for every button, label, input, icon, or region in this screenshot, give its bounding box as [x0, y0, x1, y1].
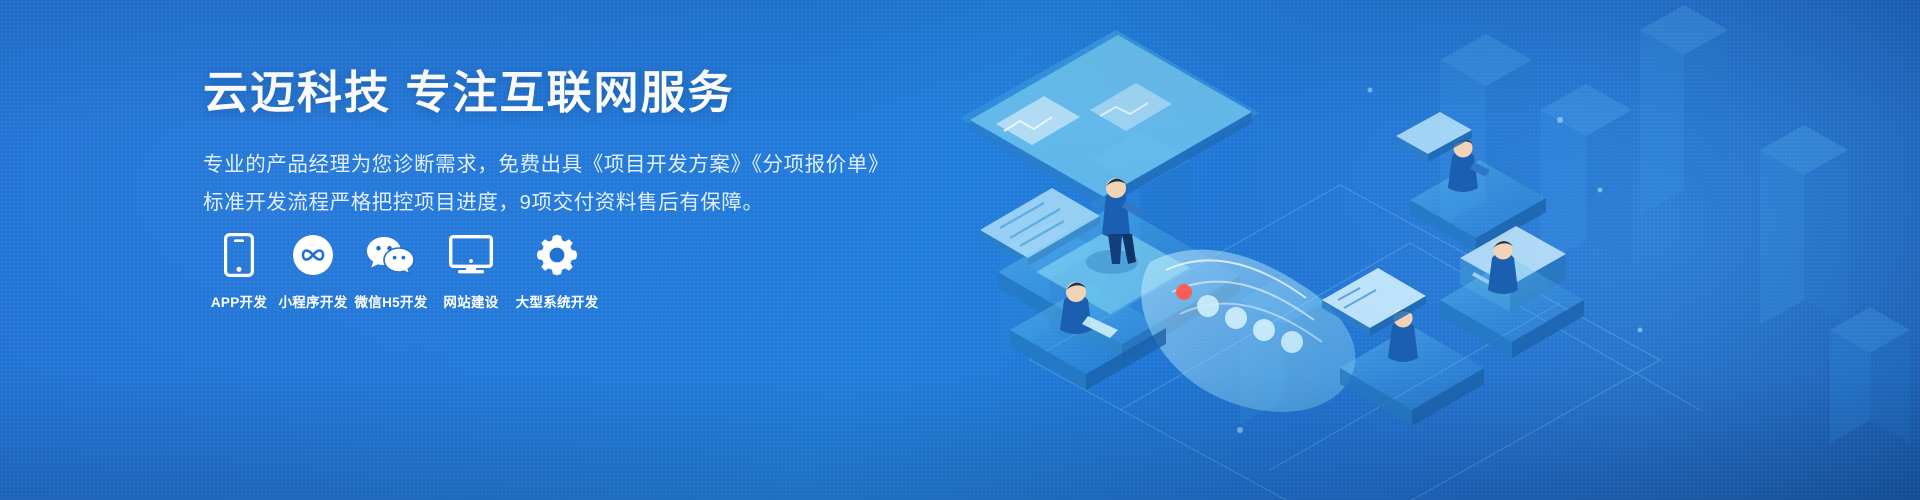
promo-banner: 云迈科技 专注互联网服务 专业的产品经理为您诊断需求，免费出具《项目开发方案》《…: [0, 0, 1920, 500]
banner-content: 云迈科技 专注互联网服务 专业的产品经理为您诊断需求，免费出具《项目开发方案》《…: [203, 66, 963, 222]
mobile-phone-icon: [224, 232, 254, 278]
subtitle-line-2: 标准开发流程严格把控项目进度，9项交付资料售后有保障。: [203, 184, 963, 222]
service-label: 网站建设: [443, 291, 498, 311]
wechat-icon: [366, 232, 416, 278]
banner-headline: 云迈科技 专注互联网服务: [203, 66, 963, 119]
service-item-miniprogram[interactable]: 小程序开发: [277, 232, 349, 311]
mini-program-icon: [292, 232, 334, 278]
service-label: 小程序开发: [279, 291, 348, 311]
service-item-wechat-h5[interactable]: 微信H5开发: [351, 232, 431, 311]
data-ribbon: [1141, 250, 1355, 412]
service-label: 大型系统开发: [516, 291, 599, 311]
service-label: APP开发: [211, 291, 267, 311]
service-item-website[interactable]: 网站建设: [433, 232, 509, 311]
monitor-icon: [449, 232, 493, 278]
banner-subtitle: 专业的产品经理为您诊断需求，免费出具《项目开发方案》《分项报价单》 标准开发流程…: [203, 146, 963, 221]
subtitle-line-1: 专业的产品经理为您诊断需求，免费出具《项目开发方案》《分项报价单》: [203, 146, 963, 184]
service-item-app[interactable]: APP开发: [203, 232, 275, 311]
gear-icon: [536, 232, 578, 278]
service-item-large-system[interactable]: 大型系统开发: [511, 232, 603, 311]
service-label: 微信H5开发: [354, 291, 427, 311]
isometric-illustration: [940, 0, 1920, 500]
service-list: APP开发 小程序开发 微信: [203, 232, 605, 311]
